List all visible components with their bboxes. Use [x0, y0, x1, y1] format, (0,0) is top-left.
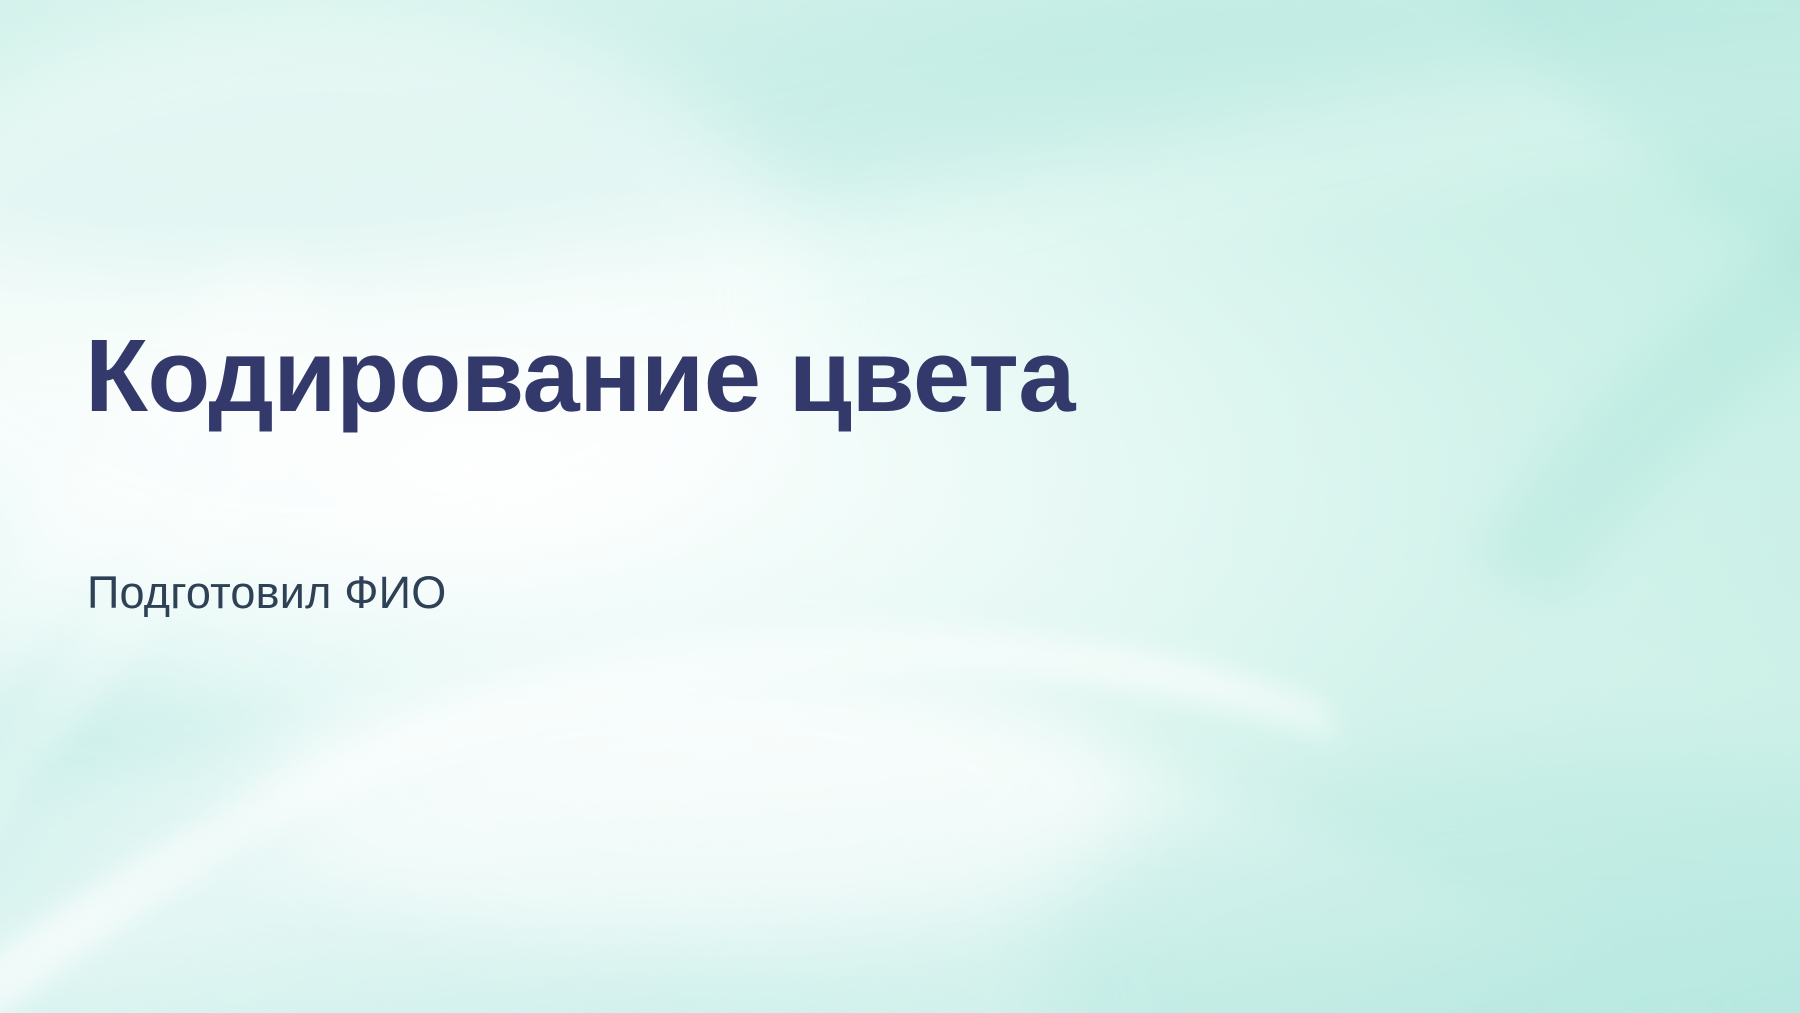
title-block: Кодирование цвета Подготовил ФИО: [85, 0, 1485, 1013]
page-title: Кодирование цвета: [85, 322, 1075, 429]
slide-subtitle: Подготовил ФИО: [87, 566, 446, 620]
presentation-slide: Кодирование цвета Подготовил ФИО: [0, 0, 1800, 1013]
wave-diagonal-right-mid: [1470, 180, 1800, 600]
